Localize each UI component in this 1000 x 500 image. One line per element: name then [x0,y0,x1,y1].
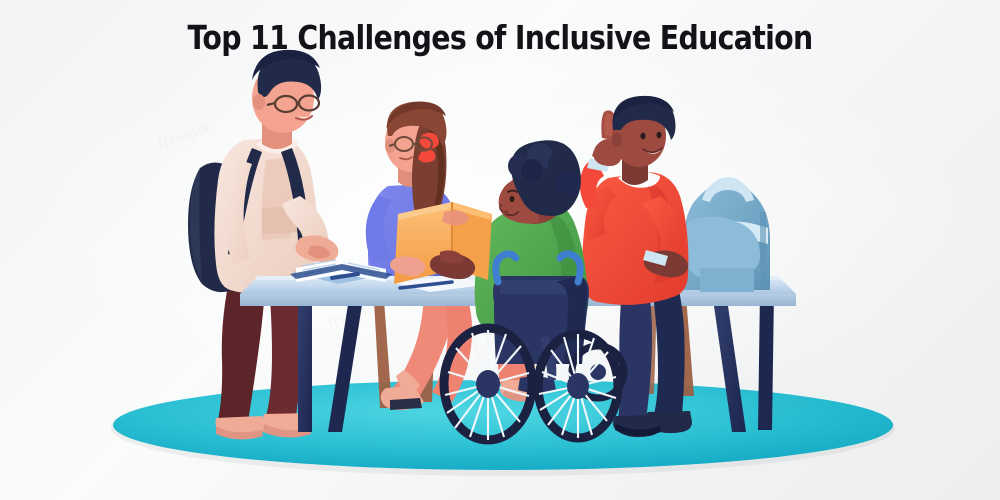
blue-backpack-on-table [683,177,770,292]
standing-student-with-backpack [188,50,338,440]
svg-text:freepik: freepik [155,117,214,154]
illustration-banner: Top 11 Challenges of Inclusive Education [0,0,1000,500]
page-title: Top 11 Challenges of Inclusive Education [70,18,930,57]
orange-open-folder [390,202,492,284]
classroom-illustration: freepik freepik freepik [0,0,1000,500]
